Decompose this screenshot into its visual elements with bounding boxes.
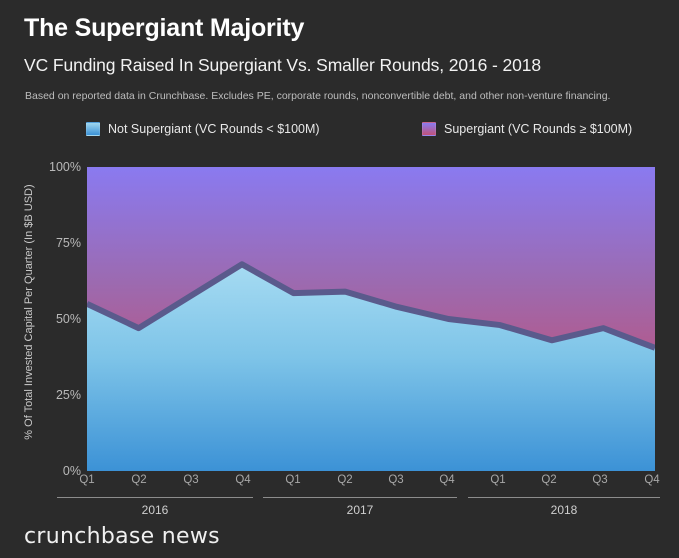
y-tick-50: 50%: [33, 312, 81, 326]
y-tick-25: 25%: [33, 388, 81, 402]
legend-label-supergiant: Supergiant (VC Rounds ≥ $100M): [444, 122, 632, 136]
x-tick-2017-q4: Q4: [427, 474, 467, 486]
chart-subtitle: VC Funding Raised In Supergiant Vs. Smal…: [24, 55, 541, 76]
chart-plot-area: [87, 167, 655, 471]
legend-swatch-icon-not-supergiant: [86, 122, 100, 136]
y-tick-75: 75%: [33, 236, 81, 250]
x-tick-2016-q1: Q1: [67, 474, 107, 486]
legend-item-not-supergiant[interactable]: Not Supergiant (VC Rounds < $100M): [86, 122, 320, 136]
x-tick-2018-q4: Q4: [632, 474, 672, 486]
x-tick-2017-q3: Q3: [376, 474, 416, 486]
x-axis-group-labels: 2016 2017 2018: [87, 503, 655, 521]
x-axis-group-rules: [87, 497, 655, 499]
chart-source-note: Based on reported data in Crunchbase. Ex…: [25, 90, 610, 102]
x-tick-2016-q4: Q4: [223, 474, 263, 486]
brand-logo: crunchbase news: [24, 524, 220, 549]
group-label-2016: 2016: [57, 503, 253, 517]
group-rule-2016: [57, 497, 253, 498]
x-tick-2018-q1: Q1: [478, 474, 518, 486]
legend-label-not-supergiant: Not Supergiant (VC Rounds < $100M): [108, 122, 320, 136]
x-tick-2016-q2: Q2: [119, 474, 159, 486]
y-tick-100: 100%: [33, 160, 81, 174]
x-tick-2016-q3: Q3: [171, 474, 211, 486]
area-chart-svg: [87, 167, 655, 471]
group-rule-2018: [468, 497, 660, 498]
legend-swatch-icon-supergiant: [422, 122, 436, 136]
group-label-2018: 2018: [468, 503, 660, 517]
chart-legend: Not Supergiant (VC Rounds < $100M) Super…: [86, 122, 646, 140]
chart-page: The Supergiant Majority VC Funding Raise…: [0, 0, 679, 558]
x-axis-labels: Q1 Q2 Q3 Q4 Q1 Q2 Q3 Q4 Q1 Q2 Q3 Q4: [87, 474, 655, 492]
x-tick-2018-q3: Q3: [580, 474, 620, 486]
legend-item-supergiant[interactable]: Supergiant (VC Rounds ≥ $100M): [422, 122, 632, 136]
group-rule-2017: [263, 497, 457, 498]
x-tick-2017-q2: Q2: [325, 474, 365, 486]
series-area-not-supergiant: [87, 264, 655, 471]
x-tick-2018-q2: Q2: [529, 474, 569, 486]
x-tick-2017-q1: Q1: [273, 474, 313, 486]
group-label-2017: 2017: [263, 503, 457, 517]
